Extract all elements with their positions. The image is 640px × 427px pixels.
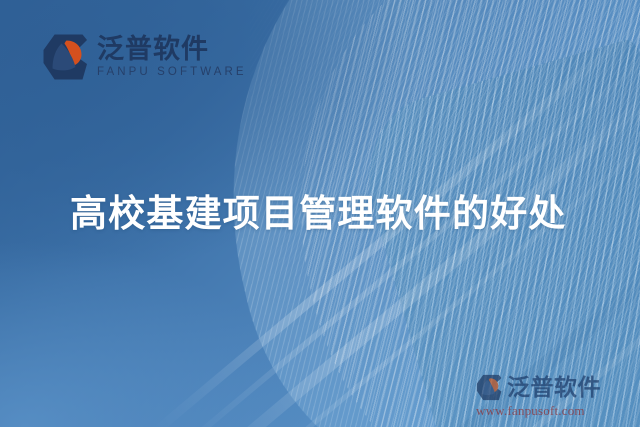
- brand-name-en: FANPU SOFTWARE: [97, 66, 247, 79]
- watermark-logo-row: 泛普软件: [476, 374, 628, 401]
- fanpu-hexagon-logo-icon: [42, 33, 88, 81]
- brand-text-block: 泛普软件 FANPU SOFTWARE: [97, 35, 247, 79]
- watermark: 泛普软件 www.fanpusoft.com: [476, 374, 628, 419]
- watermark-url: www.fanpusoft.com: [476, 403, 628, 419]
- promotional-banner: 泛普软件 FANPU SOFTWARE 高校基建项目管理软件的好处 泛普软件 w…: [0, 0, 640, 427]
- watermark-name-cn: 泛普软件: [507, 376, 601, 399]
- fanpu-hexagon-logo-icon: [476, 374, 502, 401]
- brand-logo: 泛普软件 FANPU SOFTWARE: [42, 33, 247, 81]
- headline-title: 高校基建项目管理软件的好处: [70, 183, 567, 237]
- brand-name-cn: 泛普软件: [97, 35, 247, 63]
